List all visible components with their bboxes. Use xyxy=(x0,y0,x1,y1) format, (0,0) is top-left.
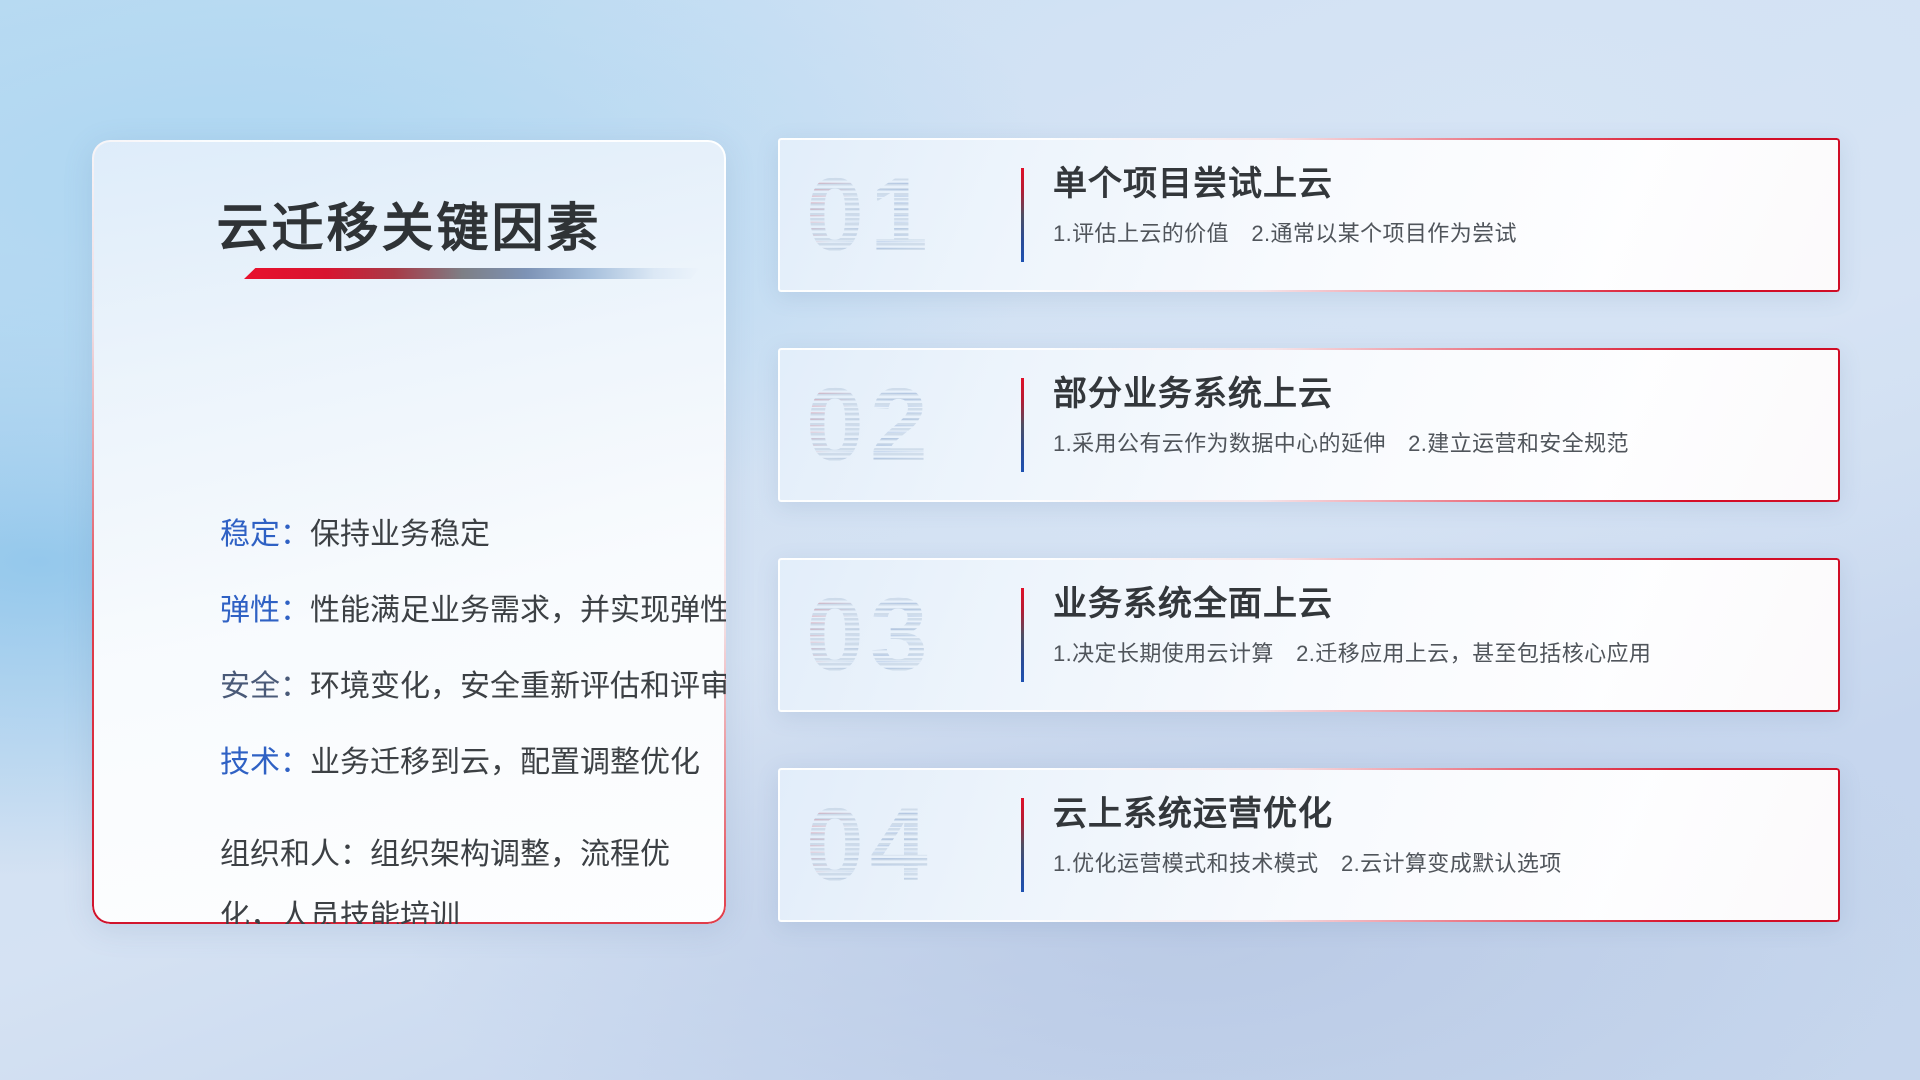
card-title: 部分业务系统上云 xyxy=(1053,374,1816,415)
key-factor-item: 弹性：性能满足业务需求，并实现弹性 xyxy=(220,596,686,626)
stage-card[interactable]: 0404云上系统运营优化1.优化运营模式和技术模式 2.云计算变成默认选项 xyxy=(778,768,1840,922)
key-factor-text: 业务迁移到云，配置调整优化 xyxy=(310,746,700,779)
stage-card-list: 0101单个项目尝试上云1.评估上云的价值 2.通常以某个项目作为尝试0202部… xyxy=(778,138,1840,978)
card-divider xyxy=(1021,798,1024,892)
key-factor-text: 环境变化，安全重新评估和评审 xyxy=(310,670,726,703)
key-factor-item: 稳定：保持业务稳定 xyxy=(220,520,686,550)
key-factor-item: 技术：业务迁移到云，配置调整优化 xyxy=(220,748,686,778)
stage-card[interactable]: 0101单个项目尝试上云1.评估上云的价值 2.通常以某个项目作为尝试 xyxy=(778,138,1840,292)
page-title: 云迁移关键因素 xyxy=(92,186,726,261)
key-factor-label: 稳定： xyxy=(220,518,310,551)
key-factor-text: 性能满足业务需求，并实现弹性 xyxy=(310,594,726,627)
card-subtitle: 1.评估上云的价值 2.通常以某个项目作为尝试 xyxy=(1053,216,1816,248)
card-subtitle: 1.优化运营模式和技术模式 2.云计算变成默认选项 xyxy=(1053,846,1816,878)
slide-canvas: 云迁移关键因素 稳定：保持业务稳定弹性：性能满足业务需求，并实现弹性安全：环境变… xyxy=(0,0,1920,1080)
card-title: 单个项目尝试上云 xyxy=(1053,164,1816,205)
card-text-block: 部分业务系统上云1.采用公有云作为数据中心的延伸 2.建立运营和安全规范 xyxy=(1053,374,1816,458)
key-factor-label: 弹性： xyxy=(220,594,310,627)
stage-number-tint: 04 xyxy=(806,793,934,897)
title-accent-bar xyxy=(244,268,700,279)
stage-number-tint: 03 xyxy=(806,583,934,687)
key-factor-label: 安全： xyxy=(220,670,310,703)
card-title: 云上系统运营优化 xyxy=(1053,794,1816,835)
card-subtitle: 1.决定长期使用云计算 2.迁移应用上云，甚至包括核心应用 xyxy=(1053,636,1816,668)
key-factor-label: 组织和人： xyxy=(220,838,370,871)
card-text-block: 业务系统全面上云1.决定长期使用云计算 2.迁移应用上云，甚至包括核心应用 xyxy=(1053,584,1816,668)
key-factor-text: 保持业务稳定 xyxy=(310,518,490,551)
card-subtitle: 1.采用公有云作为数据中心的延伸 2.建立运营和安全规范 xyxy=(1053,426,1816,458)
card-divider xyxy=(1021,588,1024,682)
key-factor-item: 安全：环境变化，安全重新评估和评审 xyxy=(220,672,686,702)
card-title: 业务系统全面上云 xyxy=(1053,584,1816,625)
key-factor-label: 技术： xyxy=(220,746,310,779)
stage-card[interactable]: 0303业务系统全面上云1.决定长期使用云计算 2.迁移应用上云，甚至包括核心应… xyxy=(778,558,1840,712)
key-factor-item: 组织和人：组织架构调整，流程优化，人员技能培训 xyxy=(220,824,686,924)
card-divider xyxy=(1021,168,1024,262)
stage-number-tint: 02 xyxy=(806,373,934,477)
key-factors-list: 稳定：保持业务稳定弹性：性能满足业务需求，并实现弹性安全：环境变化，安全重新评估… xyxy=(220,520,686,924)
key-factors-panel: 云迁移关键因素 稳定：保持业务稳定弹性：性能满足业务需求，并实现弹性安全：环境变… xyxy=(92,140,726,924)
card-text-block: 云上系统运营优化1.优化运营模式和技术模式 2.云计算变成默认选项 xyxy=(1053,794,1816,878)
stage-card[interactable]: 0202部分业务系统上云1.采用公有云作为数据中心的延伸 2.建立运营和安全规范 xyxy=(778,348,1840,502)
card-text-block: 单个项目尝试上云1.评估上云的价值 2.通常以某个项目作为尝试 xyxy=(1053,164,1816,248)
stage-number-tint: 01 xyxy=(806,163,934,267)
card-divider xyxy=(1021,378,1024,472)
